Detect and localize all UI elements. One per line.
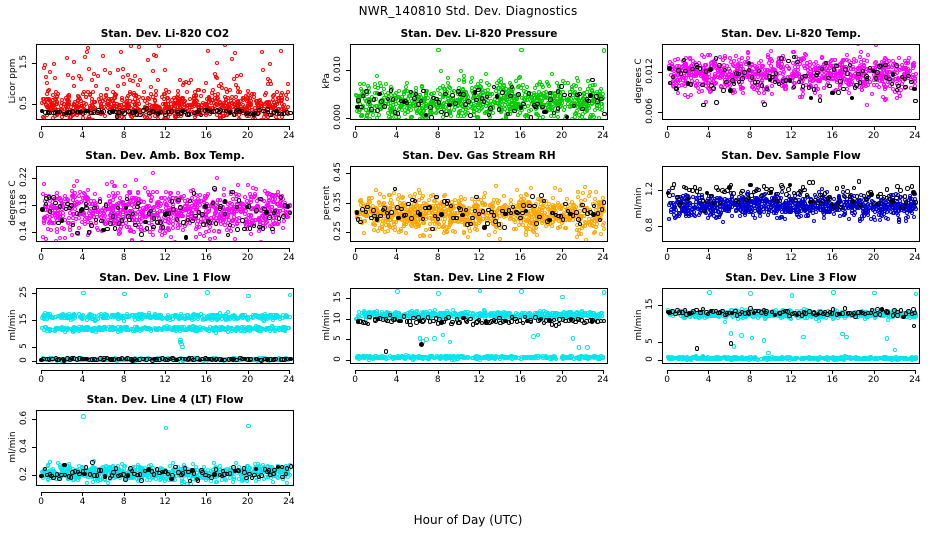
- data-point: [230, 57, 234, 61]
- data-point: [417, 110, 421, 114]
- data-point: [845, 71, 850, 76]
- data-point: [462, 80, 466, 84]
- data-point: [594, 190, 598, 194]
- x-tick-label: 4: [67, 131, 97, 141]
- data-point: [121, 67, 125, 71]
- data-point: [286, 204, 291, 209]
- y-tick-mark: [32, 63, 36, 64]
- data-point: [527, 91, 532, 96]
- x-tick-label: 16: [191, 253, 221, 263]
- data-point: [566, 102, 570, 106]
- data-point: [84, 95, 88, 99]
- data-point: [498, 237, 502, 241]
- data-point: [535, 112, 539, 116]
- data-point: [801, 56, 805, 60]
- data-point: [81, 116, 85, 120]
- data-point: [197, 88, 201, 92]
- data-point: [556, 115, 560, 119]
- x-tick-mark: [82, 126, 83, 130]
- data-point: [377, 92, 382, 97]
- data-point: [103, 114, 107, 118]
- data-point: [578, 87, 582, 91]
- data-point: [182, 102, 186, 106]
- data-point: [474, 98, 479, 103]
- x-tick-mark: [603, 126, 604, 130]
- data-point: [153, 99, 157, 103]
- data-point: [430, 227, 435, 232]
- data-point: [247, 204, 252, 209]
- data-point: [199, 94, 203, 98]
- x-tick-label: 4: [67, 253, 97, 263]
- data-point: [184, 235, 189, 240]
- data-point: [565, 115, 570, 120]
- data-point: [847, 91, 851, 95]
- data-point: [219, 82, 223, 86]
- data-point: [428, 234, 432, 238]
- data-point: [172, 96, 176, 100]
- data-point: [838, 79, 843, 84]
- data-point: [564, 226, 568, 230]
- data-point: [194, 235, 198, 239]
- data-point: [494, 184, 498, 188]
- data-point: [210, 98, 214, 102]
- data-point: [214, 221, 219, 226]
- y-tick-label: 0.22: [19, 157, 29, 197]
- data-point: [135, 205, 140, 210]
- data-point: [676, 57, 680, 61]
- data-point: [434, 195, 439, 200]
- data-point: [356, 98, 361, 103]
- panel-2: Stan. Dev. Li-820 PressurekPa0.0000.0100…: [320, 28, 620, 146]
- data-point: [212, 229, 216, 233]
- data-point: [692, 74, 696, 78]
- data-point: [92, 206, 97, 211]
- data-point: [667, 66, 672, 71]
- x-tick-mark: [41, 126, 42, 130]
- x-tick-mark: [289, 126, 290, 130]
- data-point: [556, 226, 560, 230]
- data-point: [535, 233, 539, 237]
- data-point: [770, 59, 774, 63]
- data-point: [512, 109, 517, 114]
- x-tick-label: 16: [505, 131, 535, 141]
- data-point: [252, 224, 257, 229]
- data-point: [75, 231, 80, 236]
- data-point: [147, 193, 151, 197]
- panel-title: Stan. Dev. Li-820 Pressure: [350, 28, 608, 40]
- x-tick-mark: [124, 248, 125, 252]
- data-point: [121, 222, 125, 226]
- data-point: [482, 195, 486, 199]
- panel-3: Stan. Dev. Li-820 Temp.degrees C0.0060.0…: [632, 28, 932, 146]
- data-point: [203, 204, 208, 209]
- x-tick-label: 24: [274, 131, 304, 141]
- data-point: [784, 87, 788, 91]
- data-point: [587, 194, 591, 198]
- data-point: [486, 99, 490, 103]
- x-tick-mark: [165, 126, 166, 130]
- data-point: [139, 232, 144, 237]
- data-point: [493, 230, 497, 234]
- data-point: [450, 93, 455, 98]
- data-point: [443, 92, 448, 97]
- data-point: [240, 218, 245, 223]
- data-point: [898, 94, 902, 98]
- data-point: [818, 98, 823, 103]
- data-point: [757, 91, 761, 95]
- data-point: [856, 44, 860, 46]
- data-point: [862, 64, 866, 68]
- data-point: [91, 211, 95, 215]
- data-point: [140, 240, 144, 242]
- figure-canvas: NWR_140810 Std. Dev. Diagnostics Hour of…: [0, 0, 936, 540]
- data-point: [704, 74, 708, 78]
- data-point: [899, 88, 903, 92]
- data-point: [223, 44, 227, 47]
- data-point: [133, 223, 138, 228]
- data-point: [541, 85, 545, 89]
- data-point: [742, 70, 747, 75]
- data-point: [420, 196, 424, 200]
- x-tick-label: 8: [423, 131, 453, 141]
- data-point: [126, 94, 130, 98]
- data-point: [558, 188, 562, 192]
- x-tick-mark: [248, 248, 249, 252]
- data-point: [279, 49, 283, 53]
- data-point: [380, 225, 384, 229]
- data-point: [43, 215, 47, 219]
- data-point: [547, 84, 551, 88]
- data-point: [689, 82, 694, 87]
- data-point: [543, 94, 547, 98]
- data-point: [371, 208, 376, 213]
- data-point: [399, 229, 403, 233]
- data-point: [89, 223, 94, 228]
- data-point: [86, 46, 90, 50]
- panel-4: Stan. Dev. Amb. Box Temp.degrees C0.140.…: [8, 150, 308, 268]
- data-point: [126, 73, 130, 77]
- data-point: [466, 99, 471, 104]
- data-point: [427, 198, 431, 202]
- data-point: [149, 85, 153, 89]
- data-point: [361, 202, 365, 206]
- data-point: [529, 108, 533, 112]
- x-tick-mark: [82, 248, 83, 252]
- data-point: [602, 112, 607, 117]
- data-point: [723, 56, 727, 60]
- data-point: [800, 95, 804, 99]
- data-point: [439, 212, 444, 217]
- data-point: [379, 99, 384, 104]
- data-point: [830, 91, 835, 96]
- data-point: [741, 91, 745, 95]
- data-point: [795, 60, 800, 65]
- data-point: [115, 102, 119, 106]
- data-point: [512, 227, 516, 231]
- data-point: [544, 110, 549, 115]
- y-tick-mark: [658, 112, 662, 113]
- data-point: [776, 64, 780, 68]
- data-point: [453, 101, 458, 106]
- data-point: [105, 87, 109, 91]
- data-point: [115, 213, 119, 217]
- data-point: [371, 113, 375, 117]
- data-point: [268, 62, 272, 66]
- data-point: [71, 198, 75, 202]
- data-point: [503, 119, 508, 120]
- data-point: [116, 84, 120, 88]
- data-point: [581, 191, 585, 195]
- data-point: [362, 231, 366, 235]
- data-point: [91, 90, 95, 94]
- data-point: [429, 115, 434, 120]
- data-point: [808, 67, 812, 71]
- data-point: [90, 97, 94, 101]
- data-point: [746, 51, 750, 55]
- data-point: [519, 48, 524, 53]
- data-point: [91, 118, 95, 120]
- x-tick-label: 12: [464, 131, 494, 141]
- data-point: [368, 117, 372, 120]
- plot-area: [350, 44, 608, 120]
- x-tick-label: 8: [735, 131, 765, 141]
- data-point: [792, 85, 797, 90]
- data-point: [462, 230, 466, 234]
- data-point: [128, 78, 132, 82]
- data-point: [185, 90, 189, 94]
- data-point: [584, 238, 588, 242]
- data-point: [136, 83, 140, 87]
- data-point: [171, 226, 175, 230]
- data-point: [103, 68, 107, 72]
- data-point: [870, 92, 874, 96]
- data-point: [827, 84, 832, 89]
- data-point: [231, 211, 235, 215]
- data-point: [601, 196, 605, 200]
- data-point: [550, 72, 554, 76]
- data-point: [402, 222, 406, 226]
- data-point: [42, 182, 46, 186]
- data-point: [446, 76, 450, 80]
- data-point: [130, 239, 134, 242]
- data-point: [242, 227, 247, 232]
- data-point: [556, 89, 561, 94]
- data-point: [190, 219, 195, 224]
- data-point: [53, 201, 58, 206]
- data-point: [207, 220, 212, 225]
- data-point: [236, 90, 240, 94]
- y-axis-label: degrees C: [8, 165, 18, 241]
- data-point: [724, 80, 729, 85]
- data-point: [866, 53, 870, 57]
- x-tick-label: 20: [859, 131, 889, 141]
- data-point: [675, 78, 679, 82]
- data-point: [120, 218, 125, 223]
- panel-5: Stan. Dev. Gas Stream RHpercent0.250.350…: [320, 150, 620, 268]
- data-point: [222, 187, 226, 191]
- data-point: [874, 76, 879, 81]
- x-tick-mark: [438, 126, 439, 130]
- data-point: [538, 93, 542, 97]
- data-point: [233, 51, 237, 55]
- plot-area: [36, 166, 294, 242]
- data-point: [480, 106, 484, 110]
- y-tick-mark: [658, 72, 662, 73]
- data-point: [48, 209, 53, 214]
- data-point: [258, 197, 263, 202]
- data-point: [101, 109, 106, 114]
- data-point: [428, 105, 433, 110]
- data-point: [502, 194, 506, 198]
- data-point: [525, 193, 529, 197]
- data-point: [171, 207, 176, 212]
- x-tick-mark: [708, 126, 709, 130]
- data-point: [792, 55, 797, 60]
- data-point: [251, 117, 255, 120]
- data-point: [250, 218, 254, 222]
- data-point: [847, 59, 851, 63]
- data-point: [111, 241, 115, 242]
- data-point: [192, 191, 197, 196]
- x-tick-label: 4: [381, 131, 411, 141]
- x-tick-label: 12: [150, 131, 180, 141]
- data-point: [412, 96, 417, 101]
- data-point: [181, 228, 185, 232]
- data-point: [770, 92, 774, 96]
- data-point: [459, 69, 463, 73]
- data-point: [232, 77, 236, 81]
- data-point: [774, 71, 779, 76]
- data-point: [96, 228, 100, 232]
- data-point: [487, 233, 491, 237]
- data-point: [229, 229, 233, 233]
- data-point: [541, 115, 545, 119]
- data-point: [779, 56, 784, 61]
- data-point: [77, 95, 81, 99]
- data-point: [585, 108, 589, 112]
- data-point: [246, 183, 250, 187]
- data-point: [676, 91, 680, 95]
- data-point: [83, 55, 87, 59]
- data-point: [856, 72, 861, 77]
- data-point: [58, 236, 62, 240]
- data-point: [583, 185, 587, 189]
- data-point: [48, 70, 52, 74]
- data-point: [171, 222, 175, 226]
- data-point: [410, 224, 414, 228]
- data-point: [809, 96, 814, 101]
- data-point: [909, 80, 914, 85]
- data-point: [519, 86, 523, 90]
- data-point: [766, 53, 770, 57]
- data-point: [456, 114, 460, 118]
- data-point: [388, 206, 392, 210]
- data-point: [403, 112, 407, 116]
- data-point: [143, 186, 147, 190]
- data-point: [249, 200, 253, 204]
- data-point: [375, 116, 379, 120]
- data-point: [746, 56, 750, 60]
- data-point: [134, 178, 138, 182]
- data-point: [166, 211, 171, 216]
- data-point: [179, 214, 183, 218]
- data-point: [500, 90, 505, 95]
- data-point: [822, 86, 826, 90]
- panel-title: Stan. Dev. Li-820 CO2: [36, 28, 294, 40]
- data-point: [176, 93, 180, 97]
- data-point: [89, 199, 93, 203]
- data-point: [76, 99, 80, 103]
- data-point: [574, 205, 578, 209]
- x-tick-mark: [915, 126, 916, 130]
- data-point: [877, 85, 881, 89]
- data-point: [218, 204, 223, 209]
- data-point: [119, 50, 123, 54]
- data-point: [858, 80, 863, 85]
- data-point: [529, 186, 533, 190]
- data-point: [208, 237, 212, 241]
- y-tick-mark: [32, 205, 36, 206]
- data-point: [202, 234, 206, 238]
- data-point: [887, 77, 892, 82]
- data-point: [44, 202, 49, 207]
- data-point: [149, 199, 153, 203]
- data-point: [151, 171, 155, 175]
- data-point: [383, 230, 387, 234]
- data-point: [154, 54, 158, 58]
- data-point: [562, 108, 566, 112]
- data-point: [593, 230, 597, 234]
- data-point: [791, 50, 795, 54]
- data-point: [540, 105, 545, 110]
- data-point: [116, 191, 120, 195]
- data-point: [382, 206, 387, 211]
- data-point: [288, 111, 293, 116]
- data-point: [208, 225, 212, 229]
- data-point: [136, 201, 141, 206]
- data-point: [252, 92, 256, 96]
- data-point: [151, 95, 155, 99]
- data-point: [192, 100, 196, 104]
- data-point: [77, 226, 81, 230]
- data-point: [44, 98, 48, 102]
- data-point: [52, 62, 56, 66]
- data-point: [788, 78, 793, 83]
- y-tick-mark: [32, 104, 36, 105]
- data-point: [277, 99, 281, 103]
- data-point: [129, 44, 133, 48]
- data-point: [529, 115, 534, 120]
- data-point: [424, 106, 428, 110]
- data-point: [400, 196, 404, 200]
- data-point: [588, 93, 593, 98]
- data-point: [235, 227, 240, 232]
- data-point: [94, 84, 98, 88]
- data-point: [708, 67, 713, 72]
- data-point: [593, 83, 597, 87]
- x-tick-label: 0: [26, 253, 56, 263]
- data-point: [359, 105, 364, 110]
- data-point: [87, 67, 91, 71]
- data-point: [378, 214, 383, 219]
- data-point: [395, 118, 399, 120]
- data-point: [714, 100, 719, 105]
- data-point: [145, 226, 150, 231]
- data-point: [142, 90, 146, 94]
- data-point: [44, 75, 48, 79]
- data-point: [138, 113, 143, 118]
- data-point: [58, 204, 63, 209]
